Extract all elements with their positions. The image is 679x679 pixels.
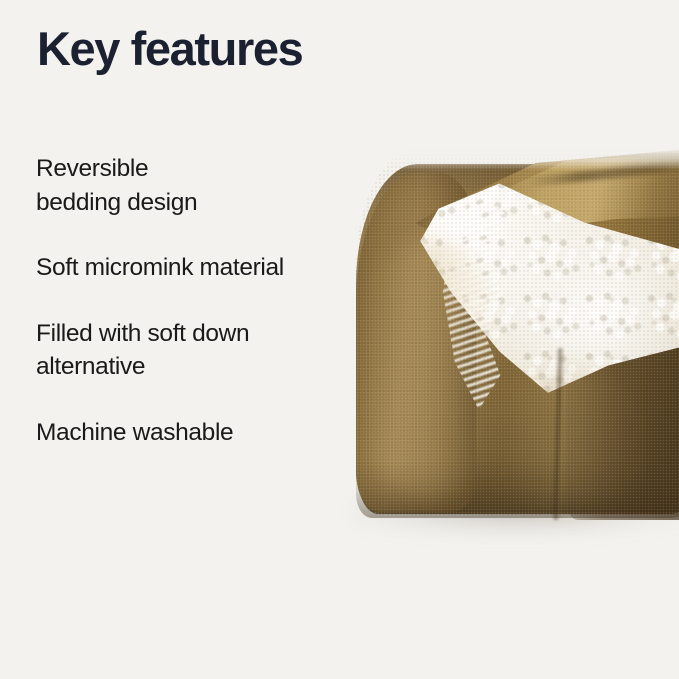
blanket-bottom-edge <box>356 460 679 518</box>
feature-list: Reversible bedding design Soft micromink… <box>36 152 356 449</box>
photo-top-fade <box>356 148 679 170</box>
feature-item-soft-micromink-material: Soft micromink material <box>36 251 356 285</box>
key-features-panel: Key features Reversible bedding design S… <box>0 0 679 679</box>
page-title: Key features <box>37 22 302 77</box>
feature-item-machine-washable: Machine washable <box>36 416 356 450</box>
feature-item-filled-with-soft-down-alternative: Filled with soft down alternative <box>36 317 356 384</box>
feature-item-reversible-bedding-design: Reversible bedding design <box>36 152 356 219</box>
product-image <box>330 120 679 590</box>
